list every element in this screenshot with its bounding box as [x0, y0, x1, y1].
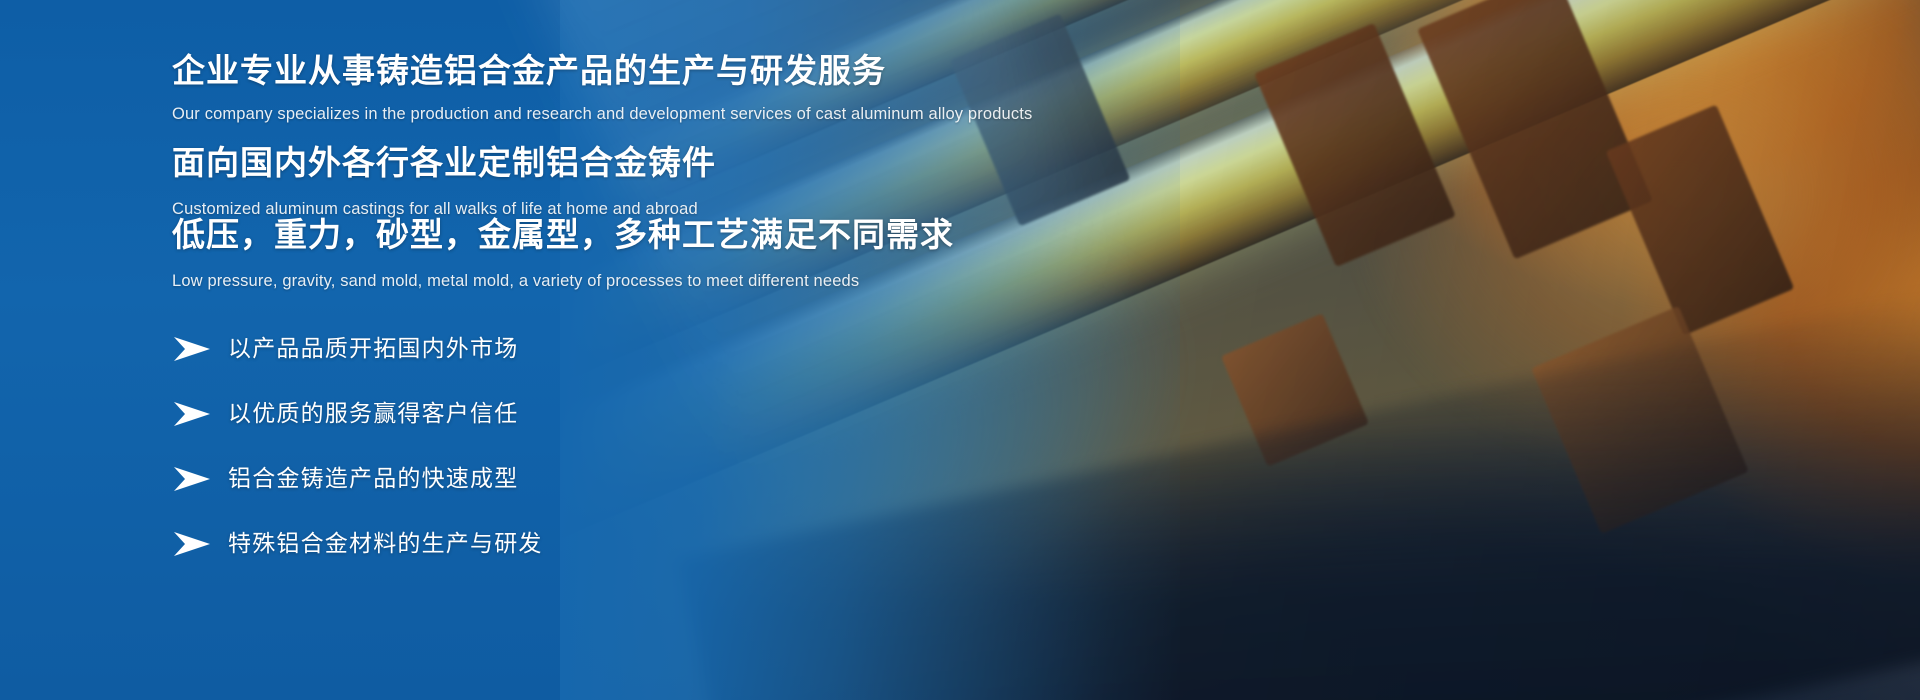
list-item-label: 以产品品质开拓国内外市场	[228, 337, 518, 360]
list-item-label: 铝合金铸造产品的快速成型	[228, 467, 518, 490]
headline-cn-production-rd: 企业专业从事铸造铝合金产品的生产与研发服务	[172, 50, 1032, 91]
headline-cn-processes: 低压，重力，砂型，金属型，多种工艺满足不同需求	[172, 214, 954, 255]
arrow-right-icon	[172, 531, 212, 557]
headline-block-processes: 低压，重力，砂型，金属型，多种工艺满足不同需求 Low pressure, gr…	[172, 214, 954, 293]
arrow-right-icon	[172, 336, 212, 362]
hero-banner: 企业专业从事铸造铝合金产品的生产与研发服务 Our company specia…	[0, 0, 1920, 700]
headline-en-processes: Low pressure, gravity, sand mold, metal …	[172, 270, 954, 293]
list-item[interactable]: 以优质的服务赢得客户信任	[172, 381, 872, 446]
headline-block-production-rd: 企业专业从事铸造铝合金产品的生产与研发服务 Our company specia…	[172, 50, 1032, 126]
list-item[interactable]: 特殊铝合金材料的生产与研发	[172, 511, 872, 576]
headline-en-production-rd: Our company specializes in the productio…	[172, 103, 1032, 126]
feature-bullet-list: 以产品品质开拓国内外市场 以优质的服务赢得客户信任 铝合金铸造产品的快速成型 特…	[172, 316, 872, 576]
arrow-right-icon	[172, 466, 212, 492]
banner-content: 企业专业从事铸造铝合金产品的生产与研发服务 Our company specia…	[172, 0, 1272, 700]
list-item[interactable]: 铝合金铸造产品的快速成型	[172, 446, 872, 511]
headline-block-customized-castings: 面向国内外各行各业定制铝合金铸件 Customized aluminum cas…	[172, 142, 716, 221]
list-item-label: 特殊铝合金材料的生产与研发	[228, 532, 543, 555]
headline-cn-customized-castings: 面向国内外各行各业定制铝合金铸件	[172, 142, 716, 183]
list-item-label: 以优质的服务赢得客户信任	[228, 402, 518, 425]
arrow-right-icon	[172, 401, 212, 427]
list-item[interactable]: 以产品品质开拓国内外市场	[172, 316, 872, 381]
